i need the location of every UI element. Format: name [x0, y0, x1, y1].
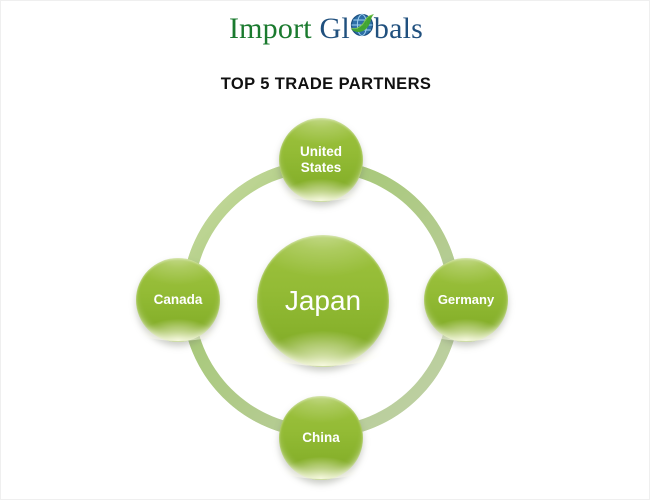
node-china[interactable]: China	[279, 396, 363, 480]
node-label-united-states: United States	[279, 144, 363, 175]
node-canada[interactable]: Canada	[136, 258, 220, 342]
trade-partners-diagram: United States Canada Japan Germany China	[1, 1, 650, 500]
node-japan-center[interactable]: Japan	[257, 235, 389, 367]
node-label-china: China	[302, 430, 340, 446]
node-label-canada: Canada	[154, 292, 203, 308]
infographic-page: Import Gl bals TOP 5 TRADE PARTNERS Unit…	[0, 0, 650, 500]
node-united-states[interactable]: United States	[279, 118, 363, 202]
node-germany[interactable]: Germany	[424, 258, 508, 342]
node-label-japan: Japan	[285, 285, 361, 317]
node-label-germany: Germany	[438, 293, 494, 308]
